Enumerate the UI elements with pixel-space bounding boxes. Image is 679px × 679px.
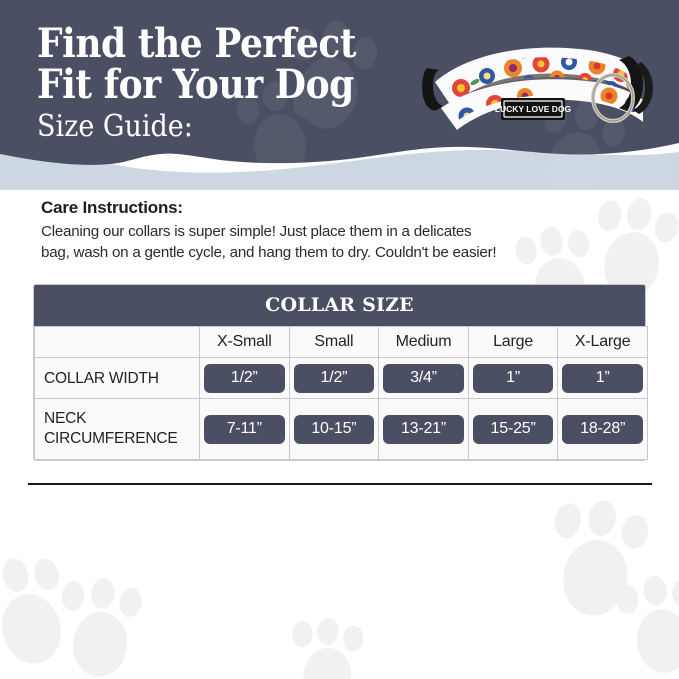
product-collar-image: LUCKY LOVE DOG <box>405 26 660 144</box>
column-header-x-large: X-Large <box>558 327 648 358</box>
cell-neck-large: 15-25” <box>468 399 558 460</box>
row-label-collar-width: COLLAR WIDTH <box>35 358 200 399</box>
page-subtitle: Size Guide: <box>37 108 356 146</box>
table-corner-cell <box>35 327 200 358</box>
cell-collar-width-small: 1/2” <box>289 358 379 399</box>
cell-neck-small: 10-15” <box>289 399 379 460</box>
cell-collar-width-medium: 3/4” <box>379 358 469 399</box>
measuring-steps-section: 1 2 3 Grab a soft measuring tape or use … <box>0 498 679 668</box>
row-label-line-2: CIRCUMFERENCE <box>44 429 199 449</box>
column-header-medium: Medium <box>379 327 469 358</box>
value-pill: 1/2” <box>204 364 285 393</box>
value-pill: 15-25” <box>473 415 554 444</box>
cell-collar-width-x-large: 1” <box>558 358 648 399</box>
value-pill: 1” <box>473 364 554 393</box>
value-pill: 3/4” <box>383 364 464 393</box>
care-instructions-text-line-2: bag, wash on a gentle cycle, and hang th… <box>41 242 621 263</box>
column-header-small: Small <box>289 327 379 358</box>
cell-collar-width-x-small: 1/2” <box>200 358 290 399</box>
header-banner: Find the Perfect Fit for Your Dog Size G… <box>0 0 679 190</box>
size-table-grid: X-Small Small Medium Large X-Large COLLA… <box>34 326 648 460</box>
value-pill: 10-15” <box>294 415 375 444</box>
collar-size-table: COLLAR SIZE X-Small Small Medium Large X… <box>33 284 646 461</box>
row-label-neck-circumference: NECK CIRCUMFERENCE <box>35 399 200 460</box>
column-header-x-small: X-Small <box>200 327 290 358</box>
care-instructions-text-line-1: Cleaning our collars is super simple! Ju… <box>41 221 621 242</box>
cell-neck-medium: 13-21” <box>379 399 469 460</box>
value-pill: 18-28” <box>562 415 643 444</box>
value-pill: 13-21” <box>383 415 464 444</box>
page-title-line-2: Fit for Your Dog <box>37 64 356 105</box>
value-pill: 1/2” <box>294 364 375 393</box>
care-instructions-block: Care Instructions: Cleaning our collars … <box>41 198 621 263</box>
collar-brand-tag: LUCKY LOVE DOG <box>495 98 572 120</box>
row-label-line-1: NECK <box>44 409 199 429</box>
table-row: NECK CIRCUMFERENCE 7-11” 10-15” 13-21” 1… <box>35 399 648 460</box>
size-guide-page: Find the Perfect Fit for Your Dog Size G… <box>0 0 679 679</box>
cell-neck-x-large: 18-28” <box>558 399 648 460</box>
value-pill: 1” <box>562 364 643 393</box>
cell-neck-x-small: 7-11” <box>200 399 290 460</box>
value-pill: 7-11” <box>204 415 285 444</box>
table-title: COLLAR SIZE <box>34 285 645 326</box>
page-title-line-1: Find the Perfect <box>37 23 356 64</box>
cell-collar-width-large: 1” <box>468 358 558 399</box>
section-divider <box>28 483 652 485</box>
column-header-large: Large <box>468 327 558 358</box>
header-title-group: Find the Perfect Fit for Your Dog Size G… <box>37 23 392 146</box>
table-header-row: X-Small Small Medium Large X-Large <box>35 327 648 358</box>
table-row: COLLAR WIDTH 1/2” 1/2” 3/4” 1” 1” <box>35 358 648 399</box>
care-instructions-heading: Care Instructions: <box>41 198 621 218</box>
collar-brand-tag-text: LUCKY LOVE DOG <box>495 104 572 114</box>
